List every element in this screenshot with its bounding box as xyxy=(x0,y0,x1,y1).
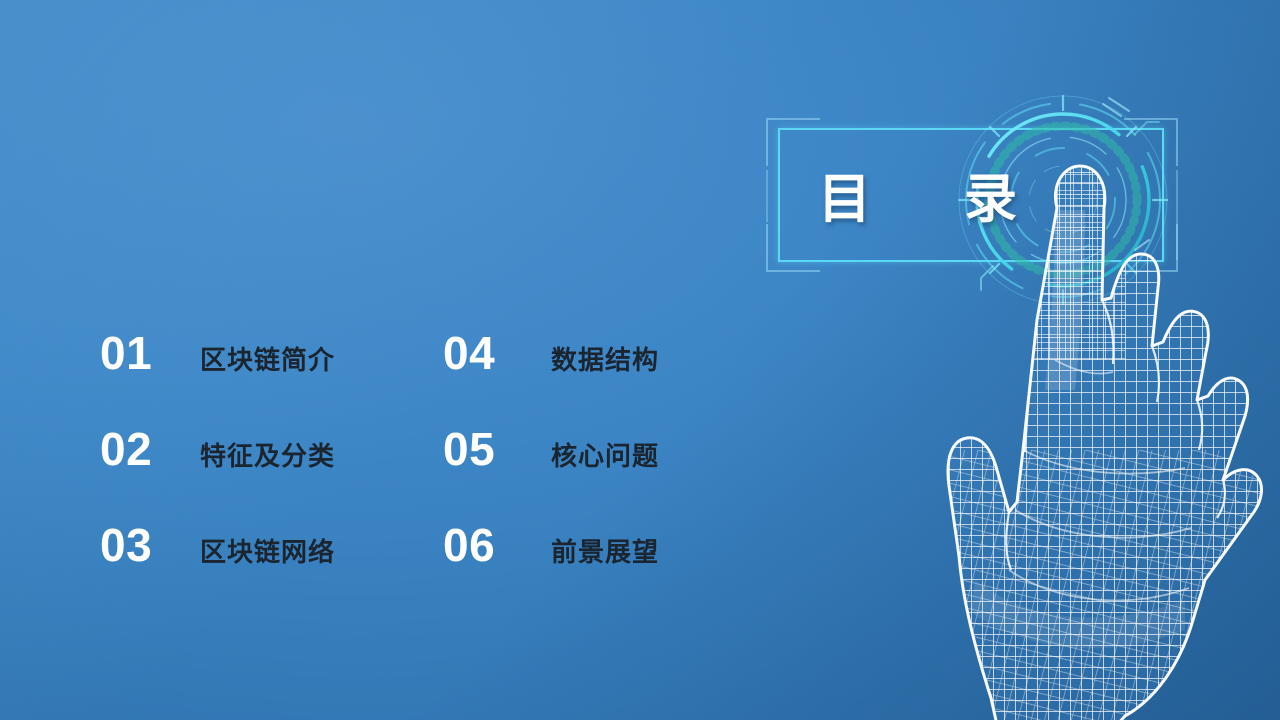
toc-number-06: 06 xyxy=(443,522,551,568)
toc-label-03: 区块链网络 xyxy=(200,539,335,565)
toc-label-04: 数据结构 xyxy=(551,347,659,373)
toc-item-03[interactable]: 03 区块链网络 xyxy=(100,522,335,618)
frame-outer-line-left xyxy=(766,170,768,222)
toc-item-04[interactable]: 04 数据结构 xyxy=(443,330,659,426)
toc-item-02[interactable]: 02 特征及分类 xyxy=(100,426,335,522)
toc-number-04: 04 xyxy=(443,330,551,376)
toc-number-05: 05 xyxy=(443,426,551,472)
toc-number-02: 02 xyxy=(100,426,200,472)
toc-label-02: 特征及分类 xyxy=(200,443,335,469)
title-frame-border: 目 录 xyxy=(760,112,1184,278)
toc-column-right: 04 数据结构 05 核心问题 06 前景展望 xyxy=(443,330,659,618)
toc-column-left: 01 区块链简介 02 特征及分类 03 区块链网络 xyxy=(100,330,335,618)
toc-number-01: 01 xyxy=(100,330,200,376)
page-title: 目 录 xyxy=(818,157,1037,233)
toc-label-05: 核心问题 xyxy=(551,443,659,469)
presentation-slide: 目 录 xyxy=(0,0,1280,720)
toc-label-06: 前景展望 xyxy=(551,539,659,565)
toc-label-01: 区块链简介 xyxy=(200,347,335,373)
toc-item-05[interactable]: 05 核心问题 xyxy=(443,426,659,522)
toc-item-01[interactable]: 01 区块链简介 xyxy=(100,330,335,426)
frame-outer-line-right xyxy=(1176,170,1178,260)
toc-item-06[interactable]: 06 前景展望 xyxy=(443,522,659,618)
toc-number-03: 03 xyxy=(100,522,200,568)
